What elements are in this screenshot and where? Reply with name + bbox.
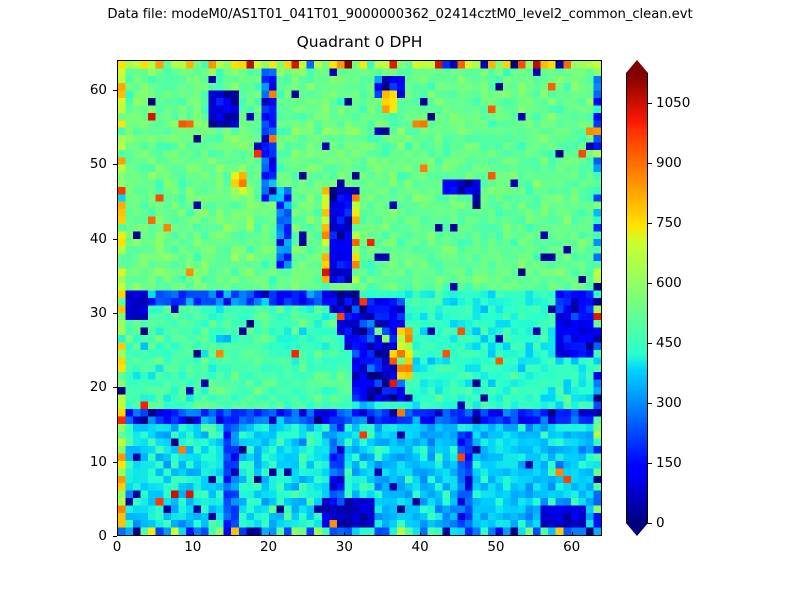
- colorbar-tick-label: 750: [656, 215, 682, 231]
- y-tick-label: 50: [69, 156, 107, 172]
- colorbar-tick-mark: [647, 283, 652, 284]
- colorbar-tick-mark: [647, 103, 652, 104]
- figure-canvas: Data file: modeM0/AS1T01_041T01_90000003…: [0, 0, 800, 600]
- colorbar-tick-label: 150: [656, 455, 682, 471]
- x-tick-mark: [269, 532, 270, 536]
- heatmap-image: [118, 61, 601, 535]
- x-tick-label: 10: [173, 539, 213, 555]
- x-tick-label: 20: [249, 539, 289, 555]
- colorbar-body: [626, 73, 648, 523]
- y-tick-label: 10: [69, 454, 107, 470]
- data-file-caption: Data file: modeM0/AS1T01_041T01_90000003…: [0, 7, 800, 23]
- x-tick-label: 60: [552, 539, 592, 555]
- y-tick-mark: [113, 239, 117, 240]
- x-tick-mark: [344, 532, 345, 536]
- heatmap-plot-area[interactable]: [117, 60, 602, 536]
- y-tick-mark: [113, 462, 117, 463]
- colorbar-tick-mark: [647, 403, 652, 404]
- x-tick-label: 40: [400, 539, 440, 555]
- y-tick-label: 0: [69, 528, 107, 544]
- colorbar-gradient: [627, 73, 647, 523]
- colorbar-tick-label: 300: [656, 395, 682, 411]
- colorbar[interactable]: 01503004506007509001050: [626, 60, 648, 536]
- y-tick-mark: [113, 90, 117, 91]
- x-tick-mark: [496, 532, 497, 536]
- x-tick-mark: [420, 532, 421, 536]
- y-tick-mark: [113, 387, 117, 388]
- y-tick-mark: [113, 164, 117, 165]
- y-tick-mark: [113, 536, 117, 537]
- colorbar-tick-mark: [647, 223, 652, 224]
- colorbar-tick-label: 0: [656, 515, 665, 531]
- page-title: Quadrant 0 DPH: [117, 33, 602, 52]
- y-tick-label: 60: [69, 82, 107, 98]
- colorbar-tick-label: 450: [656, 335, 682, 351]
- colorbar-extend-min-arrow-icon: [626, 523, 648, 536]
- y-tick-mark: [113, 313, 117, 314]
- colorbar-tick-label: 600: [656, 275, 682, 291]
- colorbar-tick-mark: [647, 523, 652, 524]
- colorbar-tick-label: 900: [656, 155, 682, 171]
- colorbar-tick-mark: [647, 343, 652, 344]
- colorbar-tick-label: 1050: [656, 95, 690, 111]
- x-tick-mark: [117, 532, 118, 536]
- colorbar-tick-mark: [647, 163, 652, 164]
- y-tick-label: 20: [69, 379, 107, 395]
- x-tick-mark: [193, 532, 194, 536]
- colorbar-tick-mark: [647, 463, 652, 464]
- x-tick-label: 50: [476, 539, 516, 555]
- colorbar-extend-max-arrow-icon: [626, 60, 648, 73]
- y-tick-label: 40: [69, 231, 107, 247]
- x-tick-mark: [572, 532, 573, 536]
- y-tick-label: 30: [69, 305, 107, 321]
- x-tick-label: 30: [324, 539, 364, 555]
